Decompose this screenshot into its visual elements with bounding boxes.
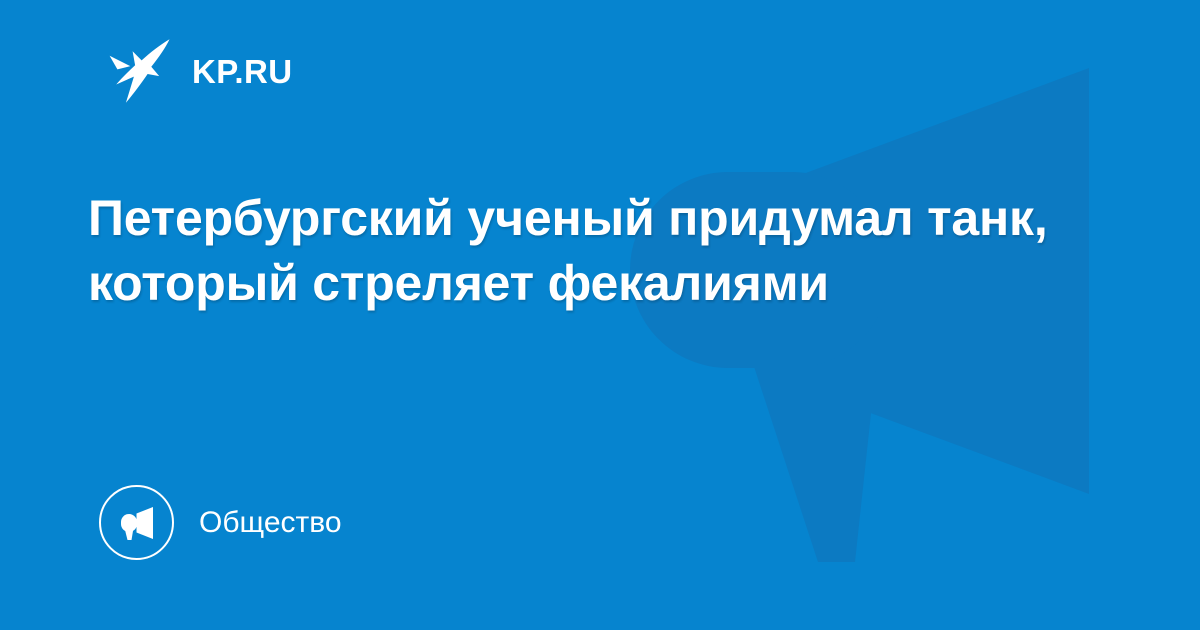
headline: Петербургский ученый придумал танк, кото…: [88, 186, 1088, 316]
swallow-bird-icon: [108, 38, 170, 104]
brand-name: KP.RU: [192, 55, 292, 88]
share-card: KP.RU Петербургский ученый придумал танк…: [0, 0, 1200, 630]
rubric-badge[interactable]: Общество: [99, 485, 342, 560]
megaphone-icon: [99, 485, 174, 560]
rubric-label: Общество: [199, 508, 342, 538]
brand-logo[interactable]: KP.RU: [108, 38, 292, 104]
